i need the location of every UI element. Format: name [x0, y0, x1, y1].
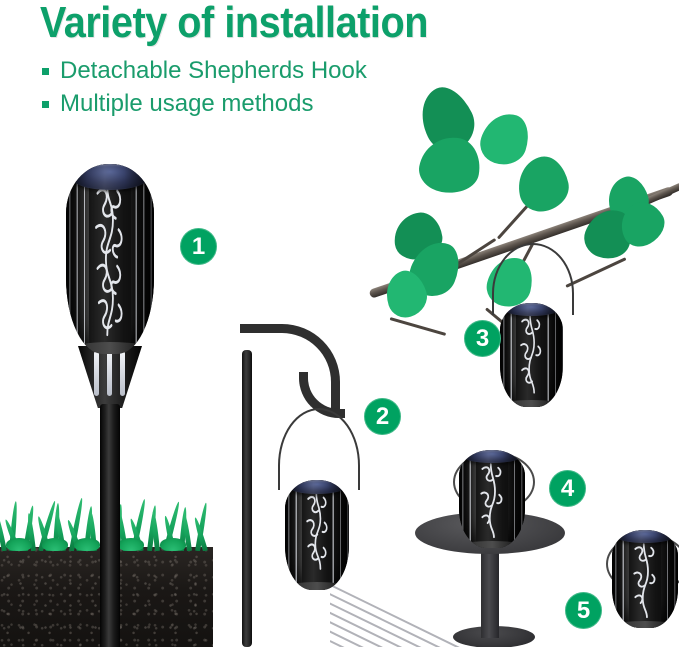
solar-panel-1	[71, 164, 148, 190]
lantern-body-4	[459, 450, 525, 548]
lantern-body-1	[66, 164, 154, 354]
feature-bullet-1-label: Detachable Shepherds Hook	[60, 57, 367, 85]
cone-vent	[107, 351, 112, 396]
scene-ground-stake	[60, 160, 160, 600]
badge-1-ground-stake: 1	[180, 228, 217, 265]
solar-panel-4	[463, 450, 521, 463]
cone-vent	[120, 351, 125, 396]
scene-deck-floor	[600, 530, 679, 647]
feature-bullet-1: Detachable Shepherds Hook	[42, 57, 367, 85]
cone-vent	[94, 351, 99, 396]
scene-tree-branch	[380, 85, 679, 375]
lantern-filigree-pattern	[516, 309, 546, 403]
scene-shepherds-hook	[230, 320, 390, 647]
torch-cone-connector	[78, 346, 142, 408]
lantern-bottom-rim	[286, 582, 347, 590]
tree-leaf	[513, 152, 573, 215]
tree-leaf	[475, 107, 535, 171]
lantern-hanging-bail-2	[278, 408, 360, 490]
solar-panel-3	[504, 303, 559, 316]
lantern-filigree-pattern	[89, 175, 131, 346]
infographic-canvas: Variety of installation Detachable Sheph…	[0, 0, 679, 647]
tree-leaf	[416, 132, 485, 198]
square-bullet-icon	[42, 68, 49, 75]
torch-pole	[100, 404, 120, 647]
tree-twig	[565, 257, 626, 288]
tree-twig	[390, 317, 447, 336]
feature-bullet-2: Multiple usage methods	[42, 90, 313, 118]
page-title: Variety of installation	[40, 0, 428, 48]
lantern-body-2	[285, 480, 349, 590]
lantern-body-5	[612, 530, 678, 628]
lantern-bottom-rim	[68, 342, 152, 354]
lantern-filigree-pattern	[302, 487, 333, 586]
square-bullet-icon	[42, 101, 49, 108]
solar-panel-5	[616, 530, 674, 543]
badge-4-table-top: 4	[549, 470, 586, 507]
lantern-filigree-pattern	[629, 536, 661, 624]
lantern-bottom-rim	[460, 541, 523, 548]
badge-2-shepherds-hook: 2	[364, 398, 401, 435]
lantern-body-3	[500, 303, 563, 407]
feature-bullet-2-label: Multiple usage methods	[60, 90, 313, 118]
solar-panel-2	[289, 480, 345, 494]
lantern-bottom-rim	[501, 400, 561, 407]
lantern-bottom-rim	[613, 621, 676, 628]
lantern-filigree-pattern	[476, 456, 508, 544]
table-stem	[481, 546, 499, 638]
badge-3-tree-branch: 3	[464, 320, 501, 357]
badge-5-deck-floor: 5	[565, 592, 602, 629]
